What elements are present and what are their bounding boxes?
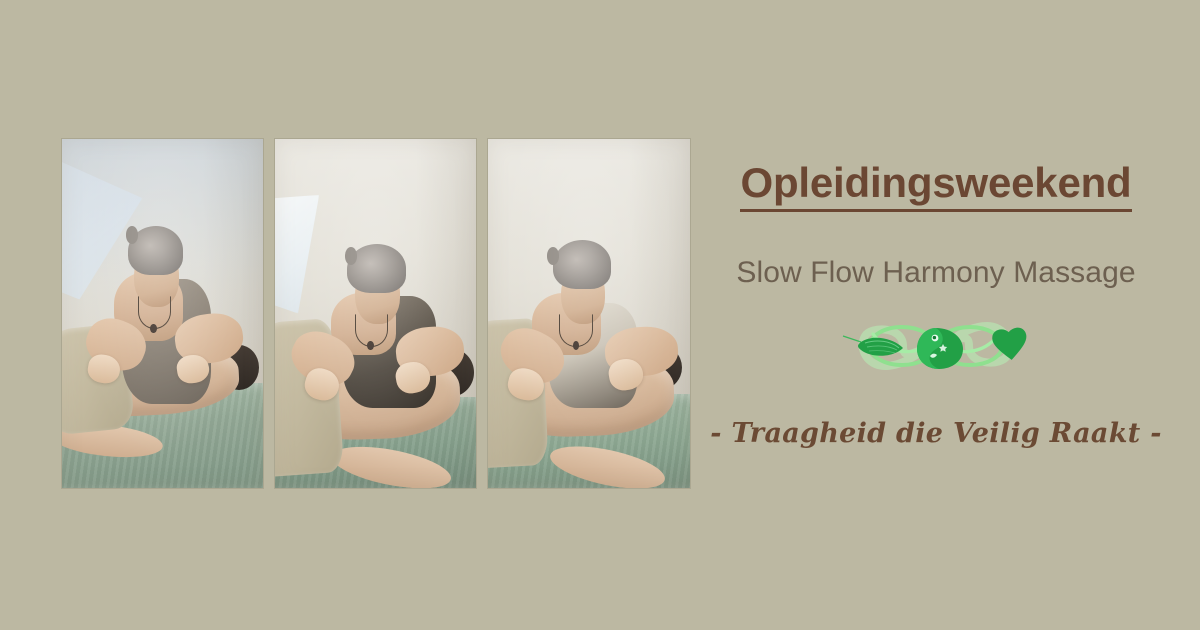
therapist-hair [553, 240, 612, 289]
page-title: Opleidingsweekend [740, 161, 1131, 212]
massage-photo-2 [275, 139, 476, 488]
massage-photo-1 [62, 139, 263, 488]
massage-photo-3 [488, 139, 690, 488]
feather-icon [843, 336, 903, 356]
necklace-pendant [150, 324, 156, 333]
tagline: - Traagheid die Veilig Raakt - [710, 418, 1161, 449]
subtitle: Slow Flow Harmony Massage [736, 256, 1135, 290]
text-column: Opleidingsweekend Slow Flow Harmony Mass… [700, 139, 1172, 488]
promo-banner: Opleidingsweekend Slow Flow Harmony Mass… [0, 0, 1200, 630]
photo-strip [62, 139, 690, 488]
therapist-hair-bun [547, 247, 559, 264]
infinity-ribbon-flourish [831, 312, 1041, 380]
